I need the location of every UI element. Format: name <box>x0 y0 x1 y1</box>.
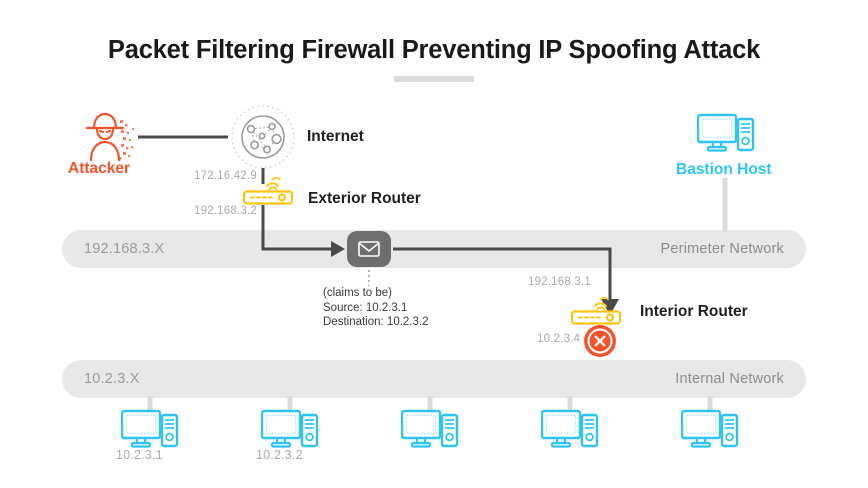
title-divider <box>394 76 474 82</box>
internal-network-band: 10.2.3.X Internal Network <box>62 360 806 398</box>
internal-host-4[interactable] <box>541 408 599 454</box>
interior-router-downstream-ip: 10.2.3.4 <box>537 333 580 345</box>
internet-globe-icon <box>231 105 295 169</box>
interior-router-icon[interactable] <box>570 294 626 326</box>
internal-network-label: Internal Network <box>675 371 784 387</box>
internal-host-3[interactable] <box>401 408 459 454</box>
envelope-packet-icon[interactable] <box>347 231 391 267</box>
perimeter-subnet-label: 192.168.3.X <box>84 241 164 257</box>
internet-label: Internet <box>307 128 364 146</box>
perimeter-network-label: Perimeter Network <box>661 241 784 257</box>
packet-source-label: Source: 10.2.3.1 <box>323 301 407 316</box>
diagram-canvas: Packet Filtering Firewall Preventing IP … <box>0 0 868 488</box>
packet-claim-label: (claims to be) <box>323 286 392 301</box>
exterior-router-downstream-ip: 192.168.3.2 <box>194 205 257 217</box>
perimeter-network-band: 192.168.3.X Perimeter Network <box>62 230 806 268</box>
exterior-router-label: Exterior Router <box>308 190 421 208</box>
page-title: Packet Filtering Firewall Preventing IP … <box>0 36 868 65</box>
internal-host-1-ip-label: 10.2.3.1 <box>116 448 163 462</box>
internal-host-5[interactable] <box>681 408 739 454</box>
hacker-icon <box>80 108 138 164</box>
bastion-host-label: Bastion Host <box>676 161 772 179</box>
attacker-label: Attacker <box>68 160 130 178</box>
internal-host-2-ip-label: 10.2.3.2 <box>256 448 303 462</box>
blocked-circle-icon <box>583 324 617 358</box>
internal-subnet-label: 10.2.3.X <box>84 371 140 387</box>
interior-router-upstream-ip: 192.168.3.1 <box>528 276 591 288</box>
interior-router-label: Interior Router <box>640 303 748 321</box>
packet-destination-label: Destination: 10.2.3.2 <box>323 315 429 330</box>
bastion-host-icon[interactable] <box>697 112 755 158</box>
exterior-router-icon[interactable] <box>242 174 298 206</box>
